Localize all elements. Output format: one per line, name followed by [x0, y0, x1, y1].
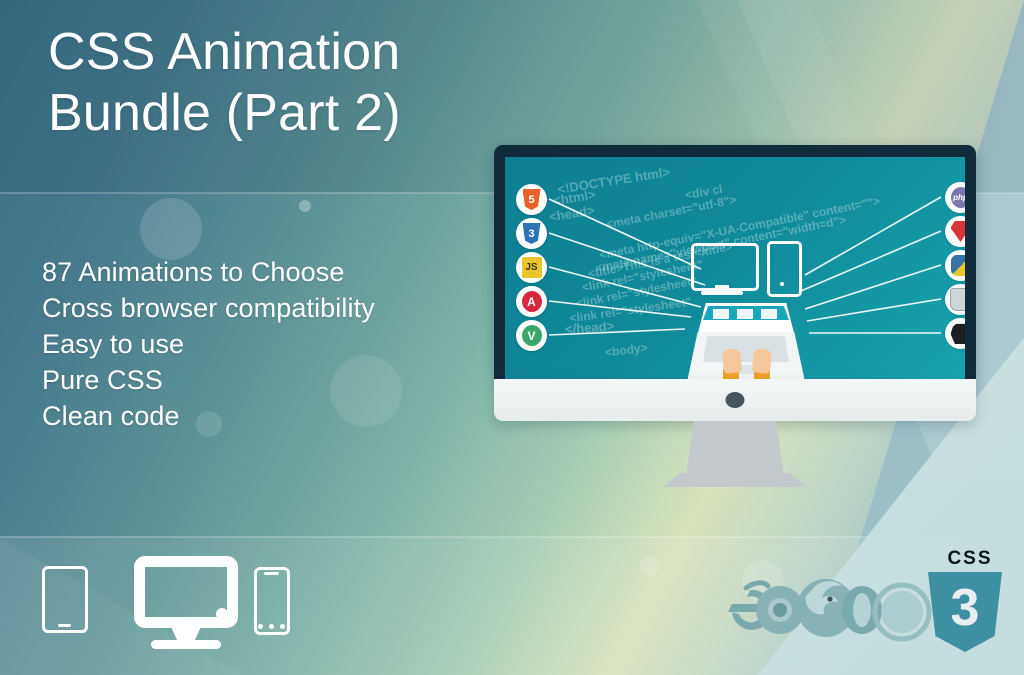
- desktop-monitor-power-dot-icon: [216, 608, 228, 620]
- smartphone-speaker-icon: [264, 572, 279, 575]
- css3-badge-number: 3: [951, 582, 980, 634]
- chrome-icon: [756, 586, 804, 634]
- decorative-circle: [299, 200, 311, 212]
- smartphone-button-icon: [280, 624, 285, 629]
- tech-badge-css3[interactable]: 3: [516, 218, 547, 249]
- screen-tablet-home-dot: [780, 282, 784, 286]
- hand-right: [752, 348, 772, 374]
- browser-logo-row: [722, 568, 932, 646]
- feature-item: Easy to use: [42, 327, 375, 363]
- feature-item: 87 Animations to Choose: [42, 255, 375, 291]
- java-icon: [950, 288, 966, 311]
- desktop-monitor-base-icon: [151, 640, 221, 649]
- feature-item: Clean code: [42, 399, 375, 435]
- decorative-circle: [140, 198, 202, 260]
- laptop-keyboard: [703, 336, 789, 362]
- page-title: CSS Animation Bundle (Part 2): [48, 22, 401, 145]
- tech-badge-github[interactable]: [945, 318, 965, 349]
- code-line: </head>: [565, 318, 615, 336]
- html5-icon: 5: [523, 189, 541, 210]
- css3-badge-word: CSS: [938, 548, 1002, 570]
- feature-item: Cross browser compatibility: [42, 291, 375, 327]
- monitor-bezel: <!DOCTYPE html> <html> <head> <meta char…: [494, 145, 976, 379]
- decorative-circle: [640, 556, 660, 576]
- screen-desktop-base: [701, 291, 743, 295]
- feature-item: Pure CSS: [42, 363, 375, 399]
- tech-badge-javascript[interactable]: JS: [516, 252, 547, 283]
- safari-icon: [875, 585, 929, 639]
- laptop-screen-block: [761, 309, 777, 319]
- tech-badge-php[interactable]: php: [945, 182, 965, 213]
- title-line-1: CSS Animation: [48, 23, 400, 81]
- laptop-illustration: [687, 303, 805, 379]
- monitor-screen: <!DOCTYPE html> <html> <head> <meta char…: [505, 157, 965, 379]
- laptop-screen-block: [737, 309, 753, 319]
- tech-badge-ruby[interactable]: [945, 216, 965, 247]
- github-icon: [951, 323, 966, 344]
- javascript-icon: JS: [522, 257, 542, 278]
- tablet-home-button-icon: [58, 624, 71, 627]
- tech-badge-vuejs[interactable]: V: [516, 320, 547, 351]
- tablet-icon: [42, 566, 88, 633]
- poster-canvas: CSS Animation Bundle (Part 2) 87 Animati…: [0, 0, 1024, 675]
- css3-badge: CSS 3: [922, 548, 1006, 652]
- smartphone-button-icon: [258, 624, 263, 629]
- tech-badge-angular[interactable]: A: [516, 286, 547, 317]
- code-line: <body>: [604, 340, 648, 359]
- feature-list: 87 Animations to Choose Cross browser co…: [42, 255, 375, 435]
- monitor-chin: [494, 379, 976, 421]
- tech-badge-python[interactable]: [945, 250, 965, 281]
- css3-shield-icon: 3: [928, 572, 1002, 652]
- php-icon: php: [951, 187, 966, 208]
- smartphone-button-icon: [269, 624, 274, 629]
- python-icon: [951, 255, 966, 276]
- laptop-screen-block: [713, 309, 729, 319]
- monitor-stand-foot: [663, 473, 807, 487]
- screen-desktop-icon: [691, 243, 759, 291]
- title-line-2: Bundle (Part 2): [48, 83, 401, 144]
- monitor-logo-dot: [726, 392, 745, 408]
- tech-badge-java[interactable]: [945, 284, 965, 315]
- vuejs-icon: V: [522, 325, 542, 346]
- monitor-stand-neck: [686, 421, 784, 477]
- css3-icon: 3: [523, 223, 541, 244]
- angular-icon: A: [522, 291, 542, 312]
- hand-left: [722, 348, 742, 374]
- screen-tablet-icon: [767, 241, 802, 297]
- ruby-icon: [951, 221, 966, 242]
- monitor-illustration: <!DOCTYPE html> <html> <head> <meta char…: [494, 145, 976, 421]
- tech-badge-html5[interactable]: 5: [516, 184, 547, 215]
